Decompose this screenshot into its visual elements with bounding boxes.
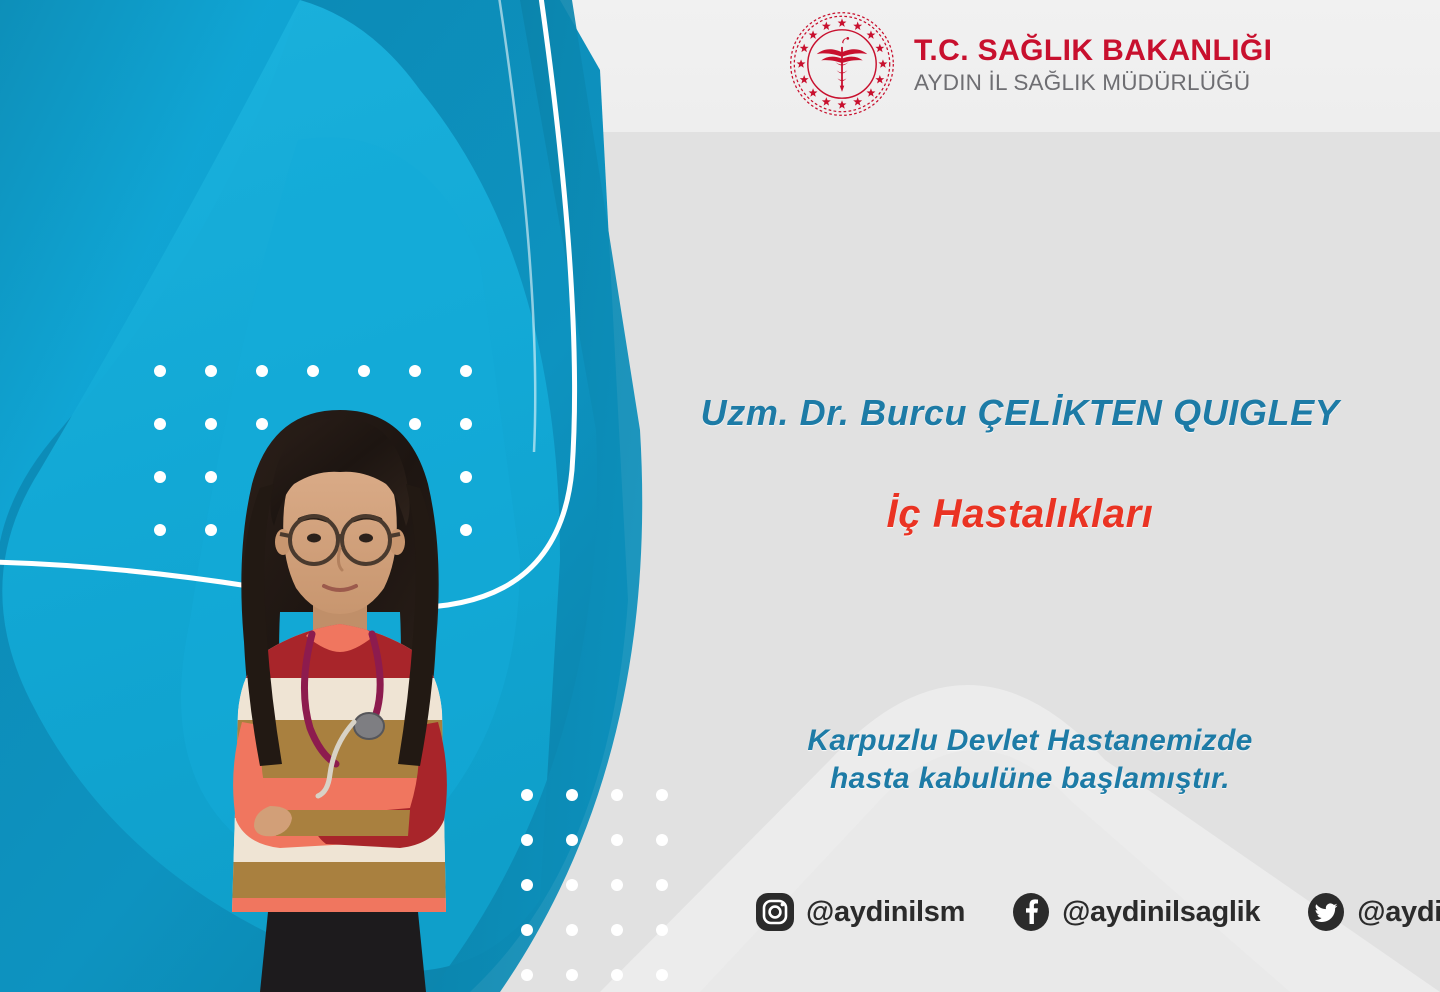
doctor-eye-right bbox=[359, 534, 373, 543]
doctor-specialty: İç Hastalıkları bbox=[600, 492, 1440, 537]
decorative-dot bbox=[460, 365, 472, 377]
emblem-star bbox=[853, 21, 862, 29]
decorative-dot bbox=[256, 365, 268, 377]
decorative-dot bbox=[358, 365, 370, 377]
social-handle-instagram[interactable]: @aydinilsm bbox=[806, 896, 965, 929]
doctor-portrait bbox=[150, 392, 530, 992]
doctor-eye-left bbox=[307, 534, 321, 543]
ministry-logo-block: T.C. SAĞLIK BAKANLIĞI AYDIN İL SAĞLIK MÜ… bbox=[788, 8, 1238, 120]
doctor-pants bbox=[260, 912, 426, 992]
emblem-star bbox=[822, 21, 831, 29]
ministry-title: T.C. SAĞLIK BAKANLIĞI bbox=[914, 35, 1272, 67]
social-handle-facebook[interactable]: @aydinilsaglik bbox=[1062, 896, 1260, 929]
decorative-dot bbox=[656, 924, 668, 936]
social-item-twitter[interactable]: @aydinilsm bbox=[1306, 892, 1440, 932]
announcement-line-1: Karpuzlu Devlet Hastanemizde bbox=[620, 722, 1440, 760]
announcement-text: Karpuzlu Devlet Hastanemizde hasta kabul… bbox=[620, 722, 1440, 799]
caduceus-icon bbox=[817, 37, 867, 92]
decorative-dot bbox=[566, 834, 578, 846]
social-item-instagram[interactable]: @aydinilsm bbox=[755, 892, 965, 932]
decorative-dot bbox=[656, 879, 668, 891]
social-item-facebook[interactable]: @aydinilsaglik bbox=[1011, 892, 1260, 932]
decorative-dot bbox=[611, 834, 623, 846]
doctor-forearm-stripe-1 bbox=[274, 810, 410, 836]
emblem-star bbox=[800, 75, 809, 83]
emblem-star bbox=[875, 75, 884, 83]
turkish-health-ministry-emblem bbox=[788, 10, 896, 118]
decorative-dot bbox=[566, 879, 578, 891]
decorative-dot bbox=[409, 365, 421, 377]
ministry-subtitle: AYDIN İL SAĞLIK MÜDÜRLÜĞÜ bbox=[914, 69, 1272, 97]
decorative-dot bbox=[154, 365, 166, 377]
decorative-dot bbox=[307, 365, 319, 377]
doctor-name: Uzm. Dr. Burcu ÇELİKTEN QUIGLEY bbox=[600, 392, 1440, 434]
social-handle-twitter[interactable]: @aydinilsm bbox=[1357, 896, 1440, 929]
emblem-star bbox=[838, 100, 847, 108]
emblem-star bbox=[809, 30, 818, 38]
decorative-dot bbox=[205, 365, 217, 377]
dot-grid-bottom bbox=[521, 789, 668, 981]
decorative-dot bbox=[611, 969, 623, 981]
facebook-icon[interactable] bbox=[1011, 892, 1051, 932]
emblem-star bbox=[838, 18, 847, 26]
announcement-line-2: hasta kabulüne başlamıştır. bbox=[620, 760, 1440, 798]
emblem-star bbox=[867, 88, 876, 96]
decorative-dot bbox=[656, 834, 668, 846]
emblem-star bbox=[822, 97, 831, 105]
instagram-icon[interactable] bbox=[755, 892, 795, 932]
social-links-row: @aydinilsm @aydinilsaglik @aydinilsm bbox=[755, 884, 1440, 940]
decorative-dot bbox=[611, 879, 623, 891]
decorative-dot bbox=[566, 969, 578, 981]
decorative-dot bbox=[566, 924, 578, 936]
emblem-star bbox=[853, 97, 862, 105]
emblem-star bbox=[800, 44, 809, 52]
twitter-icon[interactable] bbox=[1306, 892, 1346, 932]
decorative-dot bbox=[566, 789, 578, 801]
decorative-dot bbox=[611, 924, 623, 936]
ministry-logo-text: T.C. SAĞLIK BAKANLIĞI AYDIN İL SAĞLIK MÜ… bbox=[914, 31, 1272, 98]
poster-canvas: T.C. SAĞLIK BAKANLIĞI AYDIN İL SAĞLIK MÜ… bbox=[0, 0, 1440, 992]
emblem-star bbox=[809, 88, 818, 96]
stethoscope-chestpiece bbox=[354, 713, 384, 739]
emblem-star bbox=[797, 59, 806, 67]
decorative-dot bbox=[656, 969, 668, 981]
emblem-star bbox=[875, 44, 884, 52]
emblem-star bbox=[878, 59, 887, 67]
emblem-star bbox=[867, 30, 876, 38]
